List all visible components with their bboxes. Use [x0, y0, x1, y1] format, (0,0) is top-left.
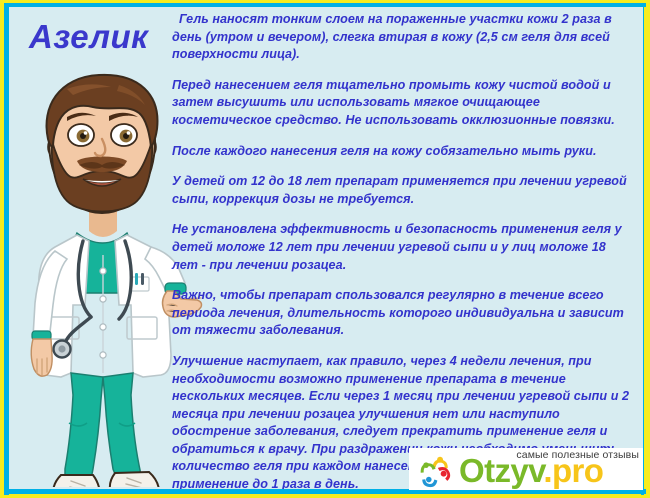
- people-pinwheel-icon: [417, 453, 455, 489]
- poster-root: Азелик: [0, 0, 650, 498]
- paragraph-3: После каждого нанесения геля на кожу соб…: [172, 143, 633, 161]
- logo-wordmark: Otzyv.pro: [459, 453, 603, 489]
- page-title: Азелик: [29, 20, 148, 53]
- frame-border-right-yellow: [644, 0, 650, 498]
- logo-word-secondary: .pro: [543, 452, 603, 489]
- instructions-text-column: Гель наносят тонким слоем на пораженные …: [172, 11, 633, 489]
- poster-canvas: Азелик: [9, 7, 643, 489]
- paragraph-4: У детей от 12 до 18 лет препарат применя…: [172, 173, 633, 208]
- paragraph-6: Важно, чтобы препарат спользовался регул…: [172, 287, 633, 340]
- paragraph-5: Не установлена эффективность и безопасно…: [172, 221, 633, 274]
- paragraph-2: Перед нанесением геля тщательно промыть …: [172, 77, 633, 130]
- logo-word-primary: Otzyv: [459, 452, 543, 489]
- paragraph-1: Гель наносят тонким слоем на пораженные …: [172, 11, 633, 64]
- otzyv-pro-logo[interactable]: самые полезные отзывы Otzyv.pro: [409, 448, 643, 490]
